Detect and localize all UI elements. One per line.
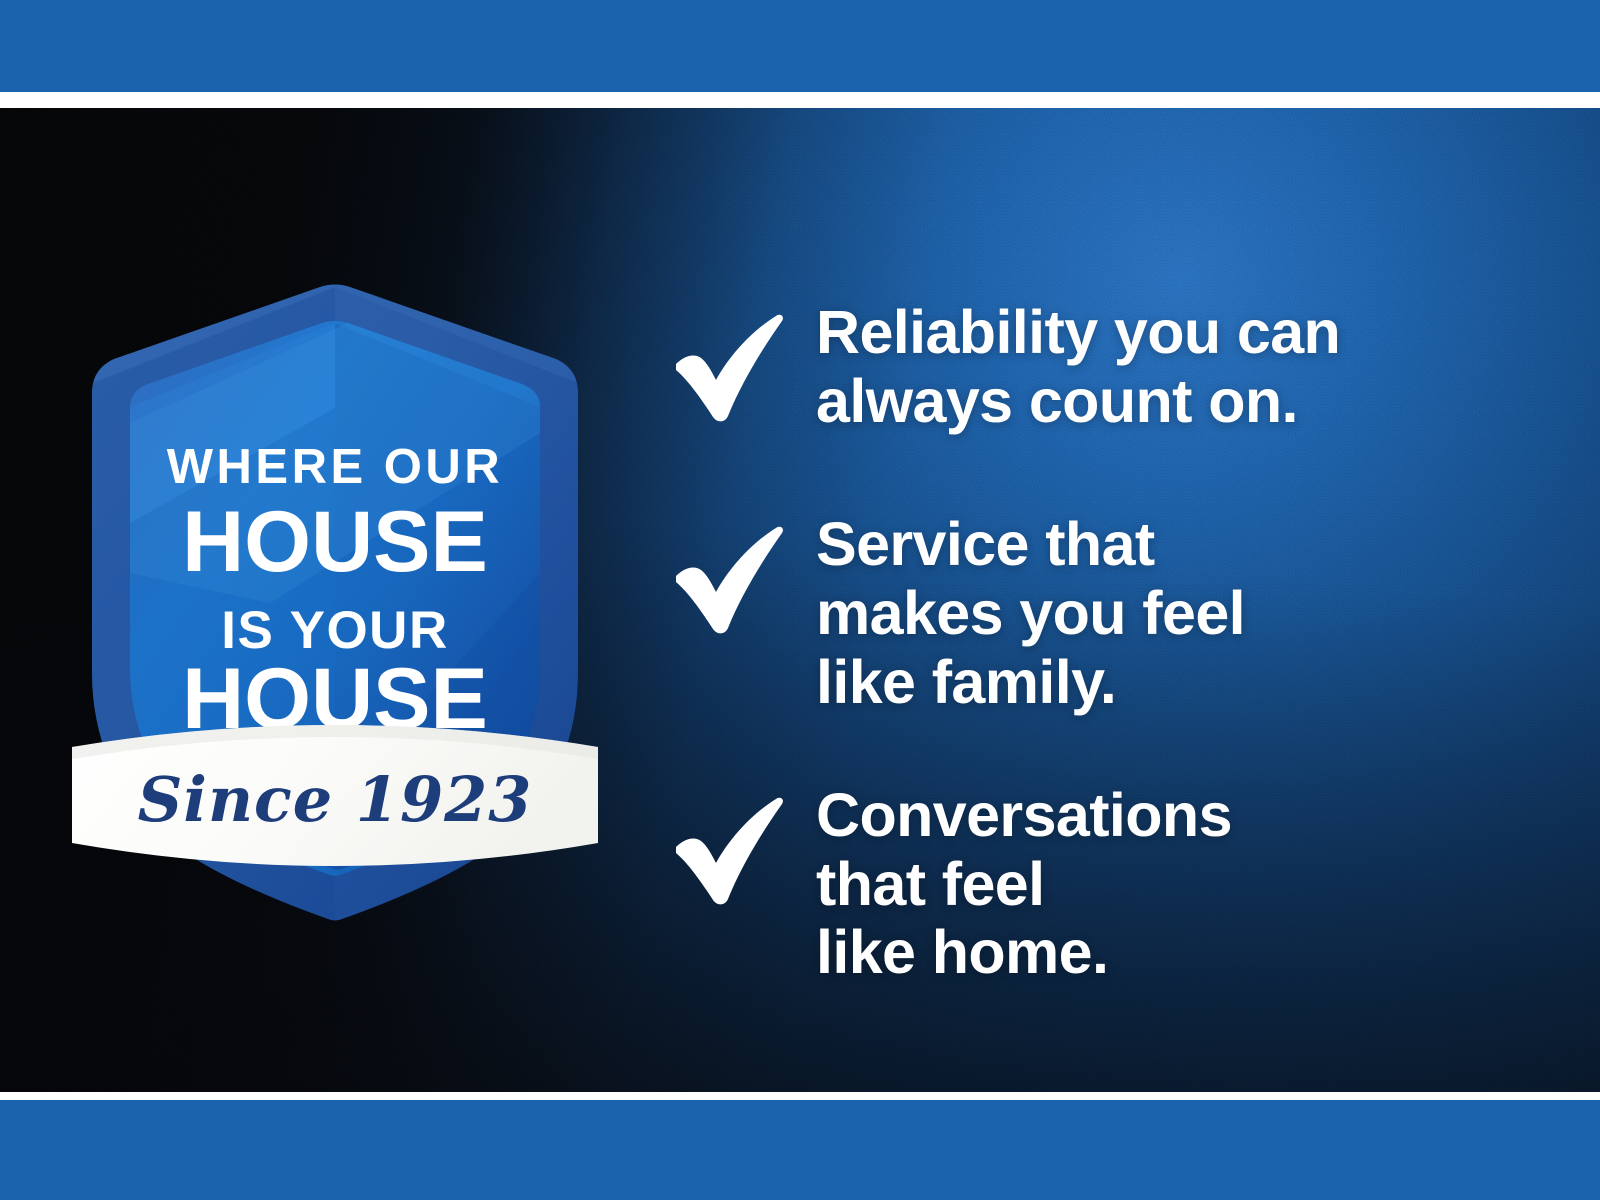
- badge-since-text: Since 1923: [138, 763, 533, 836]
- top-brand-bar: [0, 0, 1600, 92]
- benefit-item-1: Reliability you can always count on.: [668, 298, 1568, 436]
- badge-line-house-1: HOUSE: [182, 494, 488, 590]
- poster-stage: WHERE OUR HOUSE IS YOUR HOUSE Since 1923: [0, 108, 1600, 1092]
- benefit-text-3: Conversations that feel like home.: [816, 781, 1568, 988]
- benefit-item-2: Service that makes you feel like family.: [668, 510, 1568, 717]
- top-white-divider: [0, 92, 1600, 108]
- benefits-list: Reliability you can always count on. Ser…: [668, 298, 1568, 987]
- benefit-text-1: Reliability you can always count on.: [816, 298, 1568, 436]
- bottom-brand-bar: [0, 1100, 1600, 1200]
- checkmark-icon: [668, 781, 816, 907]
- checkmark-icon: [668, 510, 816, 636]
- bottom-white-divider: [0, 1092, 1600, 1100]
- checkmark-icon: [668, 298, 816, 424]
- promo-poster: WHERE OUR HOUSE IS YOUR HOUSE Since 1923: [0, 0, 1600, 1200]
- benefit-item-3: Conversations that feel like home.: [668, 781, 1568, 988]
- benefit-text-2: Service that makes you feel like family.: [816, 510, 1568, 717]
- badge-line-where-our: WHERE OUR: [167, 440, 503, 494]
- shield-badge: WHERE OUR HOUSE IS YOUR HOUSE Since 1923: [70, 273, 600, 933]
